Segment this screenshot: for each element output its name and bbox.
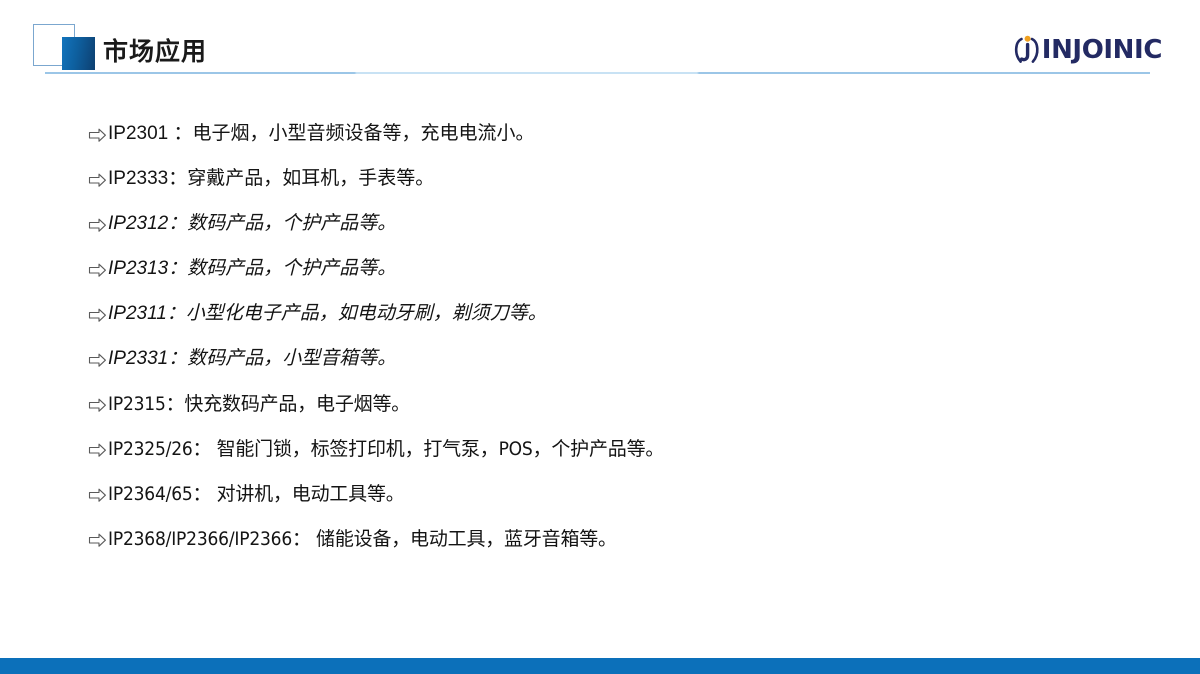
injoinic-circle-i-mark-icon bbox=[1009, 34, 1043, 66]
list-item: IP2325/26： 智能门锁，标签打印机，打气泵，POS，个护产品等。 bbox=[88, 437, 1148, 482]
list-item-label: IP2325/26： 智能门锁，标签打印机，打气泵，POS，个护产品等。 bbox=[108, 437, 664, 461]
page-title: 市场应用 bbox=[103, 36, 207, 68]
list-item-label: IP2364/65： 对讲机，电动工具等。 bbox=[108, 482, 405, 506]
list-item: IP2331：数码产品，小型音箱等。 bbox=[88, 347, 1148, 392]
list-item-label: IP2331：数码产品，小型音箱等。 bbox=[108, 347, 396, 371]
list-item: IP2315：快充数码产品，电子烟等。 bbox=[88, 392, 1148, 437]
list-item-label: IP2301 ：电子烟，小型音频设备等，充电电流小。 bbox=[108, 122, 535, 146]
list-item: IP2301 ：电子烟，小型音频设备等，充电电流小。 bbox=[88, 122, 1148, 167]
list-item: IP2364/65： 对讲机，电动工具等。 bbox=[88, 482, 1148, 527]
arrow-pennant-icon bbox=[88, 351, 107, 373]
list-item: IP2368/IP2366/IP2366： 储能设备，电动工具，蓝牙音箱等。 bbox=[88, 527, 1148, 572]
list-item-label: IP2311：小型化电子产品，如电动牙刷，剃须刀等。 bbox=[108, 302, 547, 326]
brand-logo: INJOINIC bbox=[1009, 33, 1162, 67]
list-item: IP2313：数码产品，个护产品等。 bbox=[88, 257, 1148, 302]
arrow-pennant-icon bbox=[88, 306, 107, 328]
arrow-pennant-icon bbox=[88, 396, 107, 418]
filled-square-icon bbox=[62, 37, 95, 70]
brand-wordmark: INJOINIC bbox=[1042, 37, 1162, 63]
list-item: IP2333：穿戴产品，如耳机，手表等。 bbox=[88, 167, 1148, 212]
arrow-pennant-icon bbox=[88, 126, 107, 148]
list-item: IP2311：小型化电子产品，如电动牙刷，剃须刀等。 bbox=[88, 302, 1148, 347]
list-item-label: IP2368/IP2366/IP2366： 储能设备，电动工具，蓝牙音箱等。 bbox=[108, 527, 617, 551]
list-item-label: IP2313：数码产品，个护产品等。 bbox=[108, 257, 396, 281]
market-application-list: IP2301 ：电子烟，小型音频设备等，充电电流小。 IP2333：穿戴产品，如… bbox=[88, 122, 1148, 572]
arrow-pennant-icon bbox=[88, 531, 107, 553]
list-item-label: IP2315：快充数码产品，电子烟等。 bbox=[108, 392, 410, 416]
list-item-label: IP2333：穿戴产品，如耳机，手表等。 bbox=[108, 167, 434, 191]
arrow-pennant-icon bbox=[88, 216, 107, 238]
list-item: IP2312：数码产品，个护产品等。 bbox=[88, 212, 1148, 257]
footer-accent-bar bbox=[0, 658, 1200, 674]
slide-header: 市场应用 INJOINIC bbox=[0, 0, 1200, 80]
arrow-pennant-icon bbox=[88, 441, 107, 463]
list-item-label: IP2312：数码产品，个护产品等。 bbox=[108, 212, 396, 236]
arrow-pennant-icon bbox=[88, 171, 107, 193]
arrow-pennant-icon bbox=[88, 486, 107, 508]
header-divider bbox=[45, 72, 1150, 74]
arrow-pennant-icon bbox=[88, 261, 107, 283]
